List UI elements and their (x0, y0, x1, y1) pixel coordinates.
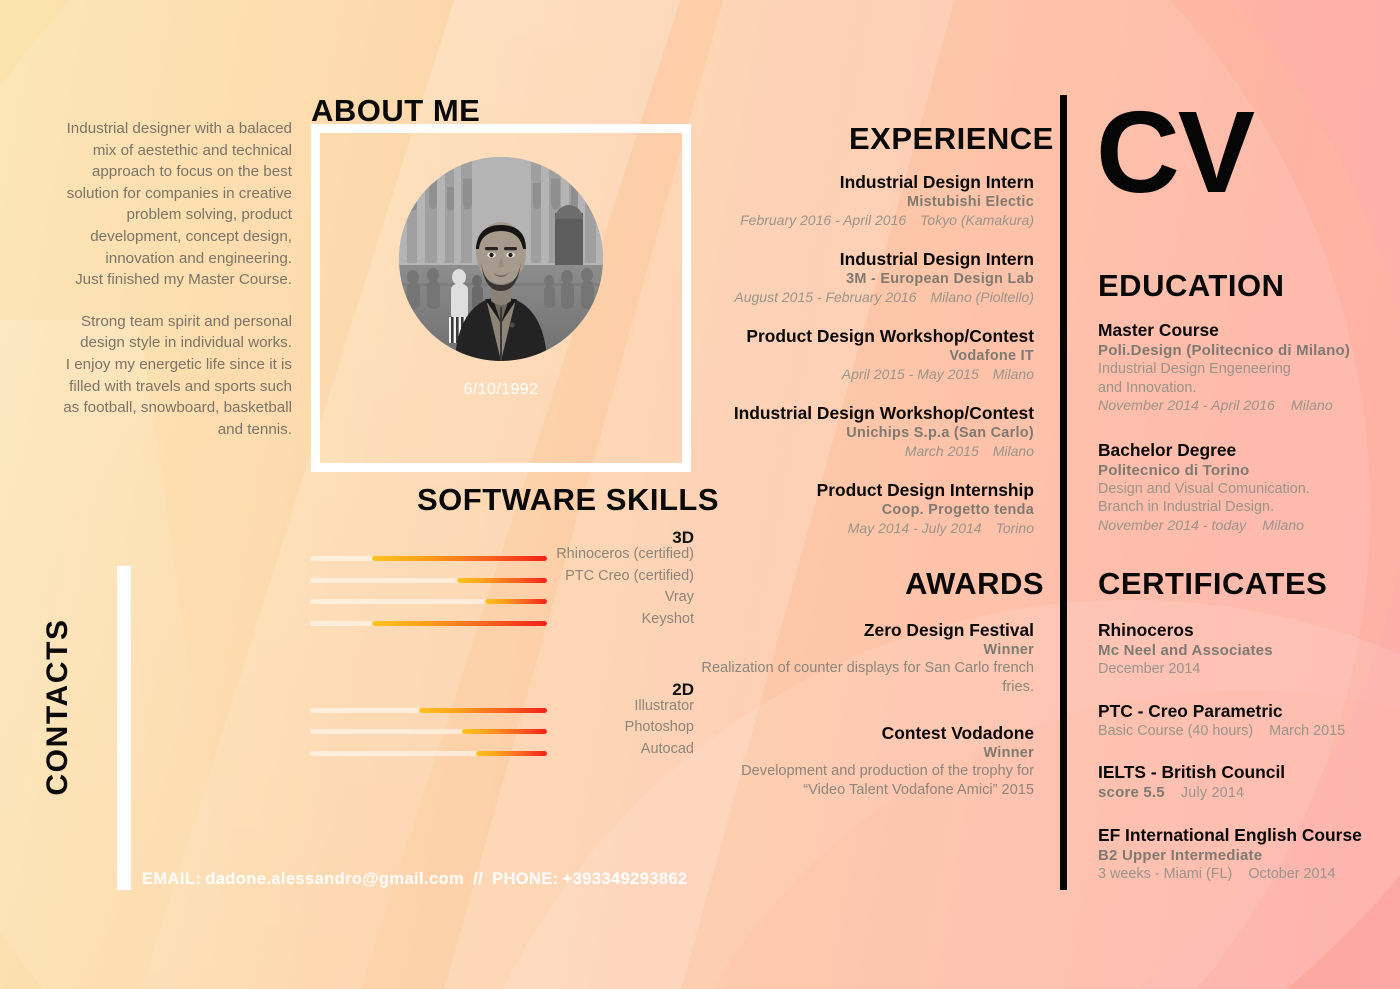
certificate-entry: IELTS - British Councilscore 5.5July 201… (1098, 762, 1398, 803)
experience-entry: Industrial Design Intern3M - European De… (700, 249, 1034, 306)
skill-bar-fill (372, 556, 547, 561)
skill-bar-fill (419, 708, 547, 713)
skill-name: Vray (665, 589, 694, 605)
education-detail: Industrial Design Engeneeringand Innovat… (1098, 360, 1398, 397)
skill-row: Autocad (300, 743, 700, 765)
about-me-heading: ABOUT ME (311, 95, 480, 126)
award-title: Zero Design Festival (700, 620, 1034, 641)
experience-title: Industrial Design Intern (700, 249, 1034, 270)
skill-bar-fill (462, 729, 547, 734)
certificate-entry: EF International English CourseB2 Upper … (1098, 825, 1398, 884)
skill-bar-track (310, 708, 547, 713)
cv-page: Industrial designer with a balaced mix o… (0, 0, 1400, 989)
education-title: Bachelor Degree (1098, 440, 1398, 461)
experience-title: Product Design Workshop/Contest (700, 326, 1034, 347)
education-title: Master Course (1098, 320, 1398, 341)
birthdate: 6/10/1992 (320, 381, 682, 399)
email-value[interactable]: dadone.alessandro@gmail.com (205, 870, 464, 888)
skill-bar-track (310, 556, 547, 561)
certificate-title: Rhinoceros (1098, 620, 1398, 641)
contacts-separator: // (464, 870, 492, 888)
experience-org: Vodafone IT (700, 347, 1034, 365)
education-entry: Bachelor DegreePolitecnico di TorinoDesi… (1098, 440, 1398, 536)
photo-frame: 6/10/1992 (311, 124, 691, 472)
award-entry: Zero Design FestivalWinnerRealization of… (700, 620, 1034, 697)
skill-name: PTC Creo (certified) (565, 568, 694, 584)
skill-bar-fill (476, 751, 547, 756)
software-skills-heading: SOFTWARE SKILLS (417, 484, 719, 515)
email-label: EMAIL: (142, 870, 205, 888)
skill-bar-track (310, 578, 547, 583)
certificate-detail: Basic Course (40 hours)March 2015 (1098, 722, 1398, 741)
award-title: Contest Vodadone (700, 723, 1034, 744)
certificate-detail: December 2014 (1098, 660, 1398, 679)
experience-dates: February 2016 - April 2016Tokyo (Kamakur… (700, 211, 1034, 229)
certificate-org: score 5.5July 2014 (1098, 783, 1398, 803)
skill-group-2d: 2D IllustratorPhotoshopAutocad (300, 680, 700, 765)
certificate-title: PTC - Creo Parametric (1098, 701, 1398, 722)
skills-list: 3D Rhinoceros (certified)PTC Creo (certi… (300, 528, 700, 765)
experience-entry: Product Design InternshipCoop. Progetto … (700, 480, 1034, 537)
education-detail: Design and Visual Comunication.Branch in… (1098, 480, 1398, 517)
experience-org: Coop. Progetto tenda (700, 501, 1034, 519)
skill-row: Vray (300, 591, 700, 613)
skill-bar-track (310, 621, 547, 626)
experience-heading: EXPERIENCE (849, 123, 1054, 154)
certificate-org: Mc Neel and Associates (1098, 641, 1398, 660)
avatar (399, 157, 603, 361)
skill-bar-track (310, 599, 547, 604)
experience-org: Mistubishi Electic (700, 193, 1034, 211)
skill-bar-track (310, 751, 547, 756)
experience-title: Industrial Design Intern (700, 172, 1034, 193)
experience-entry: Industrial Design Workshop/ContestUnichi… (700, 403, 1034, 460)
experience-dates: April 2015 - May 2015Milano (700, 365, 1034, 383)
award-result: Winner (700, 744, 1034, 762)
experience-title: Product Design Internship (700, 480, 1034, 501)
about-paragraph-1: Industrial designer with a balaced mix o… (60, 118, 292, 291)
skill-bar-fill (457, 578, 547, 583)
skill-row: PTC Creo (certified) (300, 570, 700, 592)
experience-dates: March 2015Milano (700, 442, 1034, 460)
phone-value[interactable]: +393349293862 (563, 870, 688, 888)
skill-name: Autocad (641, 741, 694, 757)
vertical-divider (1060, 95, 1067, 890)
cv-logo: CV (1096, 99, 1253, 206)
award-description: Development and production of the trophy… (700, 762, 1034, 800)
skill-name: Keyshot (642, 611, 694, 627)
award-description: Realization of counter displays for San … (700, 659, 1034, 697)
skill-name: Rhinoceros (certified) (556, 546, 694, 562)
awards-heading: AWARDS (905, 568, 1044, 599)
experience-dates: May 2014 - July 2014Torino (700, 519, 1034, 537)
certificate-detail: 3 weeks - Miami (FL)October 2014 (1098, 865, 1398, 884)
education-list: Master CoursePoli.Design (Politecnico di… (1098, 320, 1398, 559)
skill-bar-fill (372, 621, 547, 626)
education-entry: Master CoursePoli.Design (Politecnico di… (1098, 320, 1398, 416)
skill-bar-fill (485, 599, 547, 604)
award-result: Winner (700, 641, 1034, 659)
education-dates: November 2014 - todayMilano (1098, 517, 1398, 536)
certificate-title: EF International English Course (1098, 825, 1398, 846)
experience-entry: Industrial Design InternMistubishi Elect… (700, 172, 1034, 229)
about-me-text: Industrial designer with a balaced mix o… (60, 118, 292, 440)
education-dates: November 2014 - April 2016Milano (1098, 397, 1398, 416)
about-paragraph-2: Strong team spirit and personal design s… (60, 311, 292, 441)
certificates-heading: CERTIFICATES (1098, 568, 1327, 599)
certificate-title: IELTS - British Council (1098, 762, 1398, 783)
skill-row: Keyshot (300, 613, 700, 635)
education-heading: EDUCATION (1098, 270, 1284, 301)
experience-org: 3M - European Design Lab (700, 270, 1034, 288)
skill-group-label-3d: 3D (300, 528, 700, 548)
contacts-label: CONTACTS (41, 607, 75, 807)
skill-name: Photoshop (625, 719, 694, 735)
awards-list: Zero Design FestivalWinnerRealization of… (700, 620, 1034, 826)
certificate-entry: RhinocerosMc Neel and AssociatesDecember… (1098, 620, 1398, 679)
footer-contacts: EMAIL:dadone.alessandro@gmail.com//PHONE… (142, 870, 688, 889)
skill-row: Illustrator (300, 700, 700, 722)
experience-entry: Product Design Workshop/ContestVodafone … (700, 326, 1034, 383)
skill-name: Illustrator (634, 698, 694, 714)
experience-org: Unichips S.p.a (San Carlo) (700, 424, 1034, 442)
experience-list: Industrial Design InternMistubishi Elect… (700, 172, 1034, 557)
education-org: Poli.Design (Politecnico di Milano) (1098, 341, 1398, 360)
contacts-white-bar (117, 566, 131, 890)
skill-group-3d: 3D Rhinoceros (certified)PTC Creo (certi… (300, 528, 700, 635)
experience-title: Industrial Design Workshop/Contest (700, 403, 1034, 424)
phone-label: PHONE: (492, 870, 563, 888)
certificate-entry: PTC - Creo ParametricBasic Course (40 ho… (1098, 701, 1398, 741)
award-entry: Contest VodadoneWinnerDevelopment and pr… (700, 723, 1034, 800)
skill-group-label-2d: 2D (300, 680, 700, 700)
experience-dates: August 2015 - February 2016Milano (Piolt… (700, 288, 1034, 306)
certificates-list: RhinocerosMc Neel and AssociatesDecember… (1098, 620, 1398, 906)
education-org: Politecnico di Torino (1098, 461, 1398, 480)
skill-bar-track (310, 729, 547, 734)
skill-row: Rhinoceros (certified) (300, 548, 700, 570)
certificate-org: B2 Upper Intermediate (1098, 846, 1398, 865)
skill-row: Photoshop (300, 721, 700, 743)
